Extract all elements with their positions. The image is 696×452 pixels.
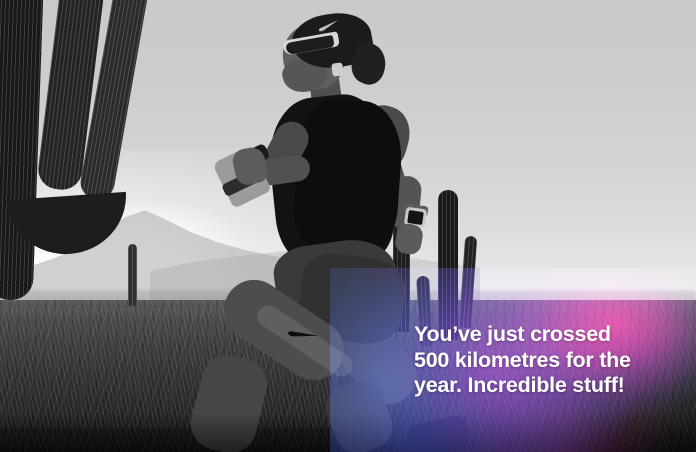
runner-hand-back xyxy=(394,222,425,256)
runner-earbud xyxy=(331,62,344,76)
achievement-headline: You’ve just crossed 500 kilometres for t… xyxy=(414,322,644,399)
achievement-banner: You’ve just crossed 500 kilometres for t… xyxy=(0,0,696,452)
bottom-vignette xyxy=(0,412,696,452)
sport-watch-screen xyxy=(407,210,424,225)
